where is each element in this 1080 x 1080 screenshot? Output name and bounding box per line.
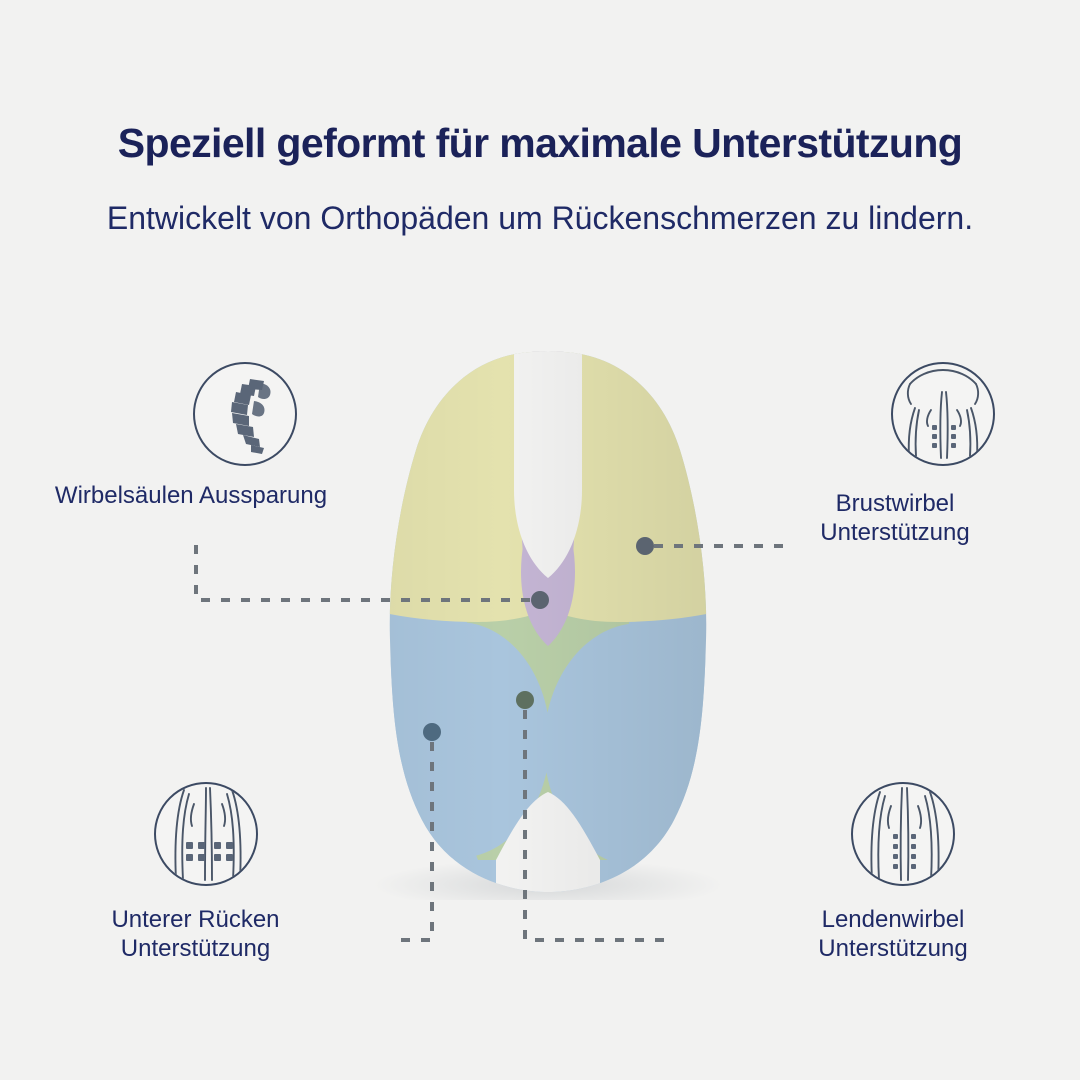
page-title: Speziell geformt für maximale Unterstütz… [0, 120, 1080, 167]
feature-label-thoracic-support: Brustwirbel Unterstützung [730, 490, 1060, 548]
lumbar-back-icon [851, 782, 955, 886]
dot-lower-back [423, 723, 441, 741]
product-image-pillow [318, 340, 778, 900]
dot-thoracic [636, 537, 654, 555]
feature-lower-back-support[interactable]: Unterer Rücken Unterstützung [28, 782, 363, 964]
lower-back-icon [154, 782, 258, 886]
feature-thoracic-support[interactable]: Brustwirbel Unterstützung [730, 362, 1060, 548]
feature-lumbar-support[interactable]: Lendenwirbel Unterstützung [728, 782, 1058, 964]
feature-label-lower-back-support: Unterer Rücken Unterstützung [28, 906, 363, 964]
infographic-stage: Speziell geformt für maximale Unterstütz… [0, 0, 1080, 1080]
feature-spine-recess[interactable]: Wirbelsäulen Aussparung [30, 362, 350, 511]
dot-spine-recess [531, 591, 549, 609]
feature-label-lumbar-support: Lendenwirbel Unterstützung [728, 906, 1058, 964]
spine-vertebrae-icon [193, 362, 297, 466]
feature-label-spine-recess: Wirbelsäulen Aussparung [16, 482, 366, 511]
dot-lumbar [516, 691, 534, 709]
upper-back-icon [891, 362, 995, 466]
page-subtitle: Entwickelt von Orthopäden um Rückenschme… [100, 198, 980, 240]
